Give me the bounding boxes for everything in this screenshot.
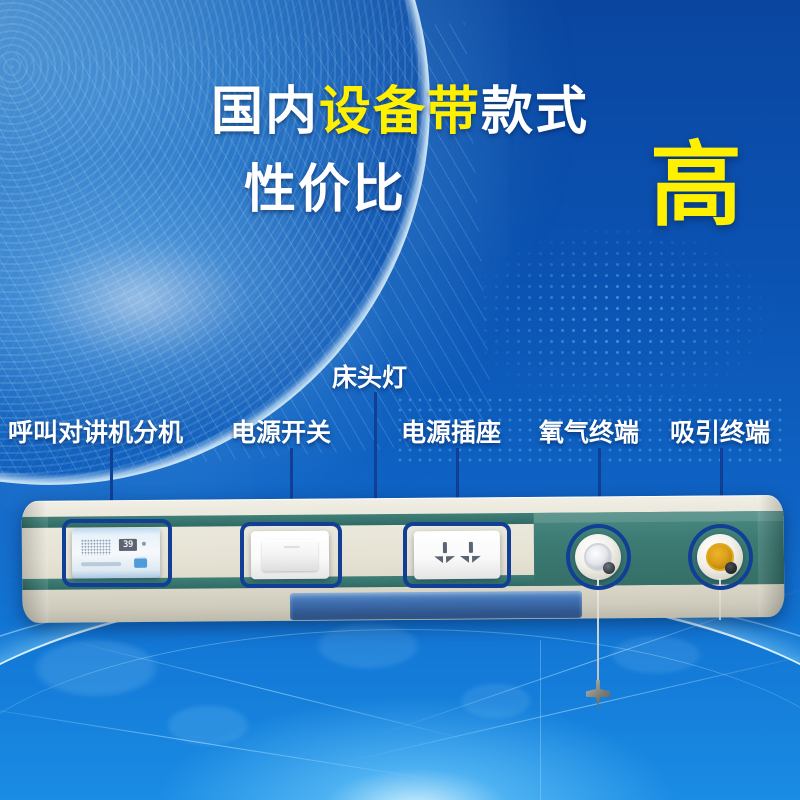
highlight-circle-oxygen-terminal xyxy=(566,524,631,590)
pull-cord[interactable] xyxy=(597,578,599,688)
highlight-box-power-switch xyxy=(240,522,342,588)
callout-label-power-outlet: 电源插座 xyxy=(401,413,501,449)
callout-label-bed-light: 床头灯 xyxy=(332,358,407,394)
panel-end-cap-left xyxy=(22,501,49,623)
callout-label-intercom: 呼叫对讲机分机 xyxy=(8,413,183,449)
callout-layer: 呼叫对讲机分机 电源开关 床头灯 电源插座 氧气终端 吸引终端 xyxy=(0,0,800,800)
highlight-box-intercom xyxy=(62,519,172,587)
highlight-box-power-outlet xyxy=(403,522,511,588)
callout-label-power-switch: 电源开关 xyxy=(231,413,331,449)
bed-light-strip[interactable] xyxy=(290,591,582,620)
panel-end-cap-right xyxy=(758,495,785,617)
callout-label-oxygen-terminal: 氧气终端 xyxy=(539,413,639,449)
callout-label-suction-terminal: 吸引终端 xyxy=(670,413,770,449)
highlight-circle-suction-terminal xyxy=(688,524,753,590)
poster-canvas: 国内设备带款式 性价比 高 呼叫对讲机分机 电源开关 床头灯 电源插座 氧气终端… xyxy=(0,0,800,800)
panel-gas-face-highlight xyxy=(534,511,784,523)
